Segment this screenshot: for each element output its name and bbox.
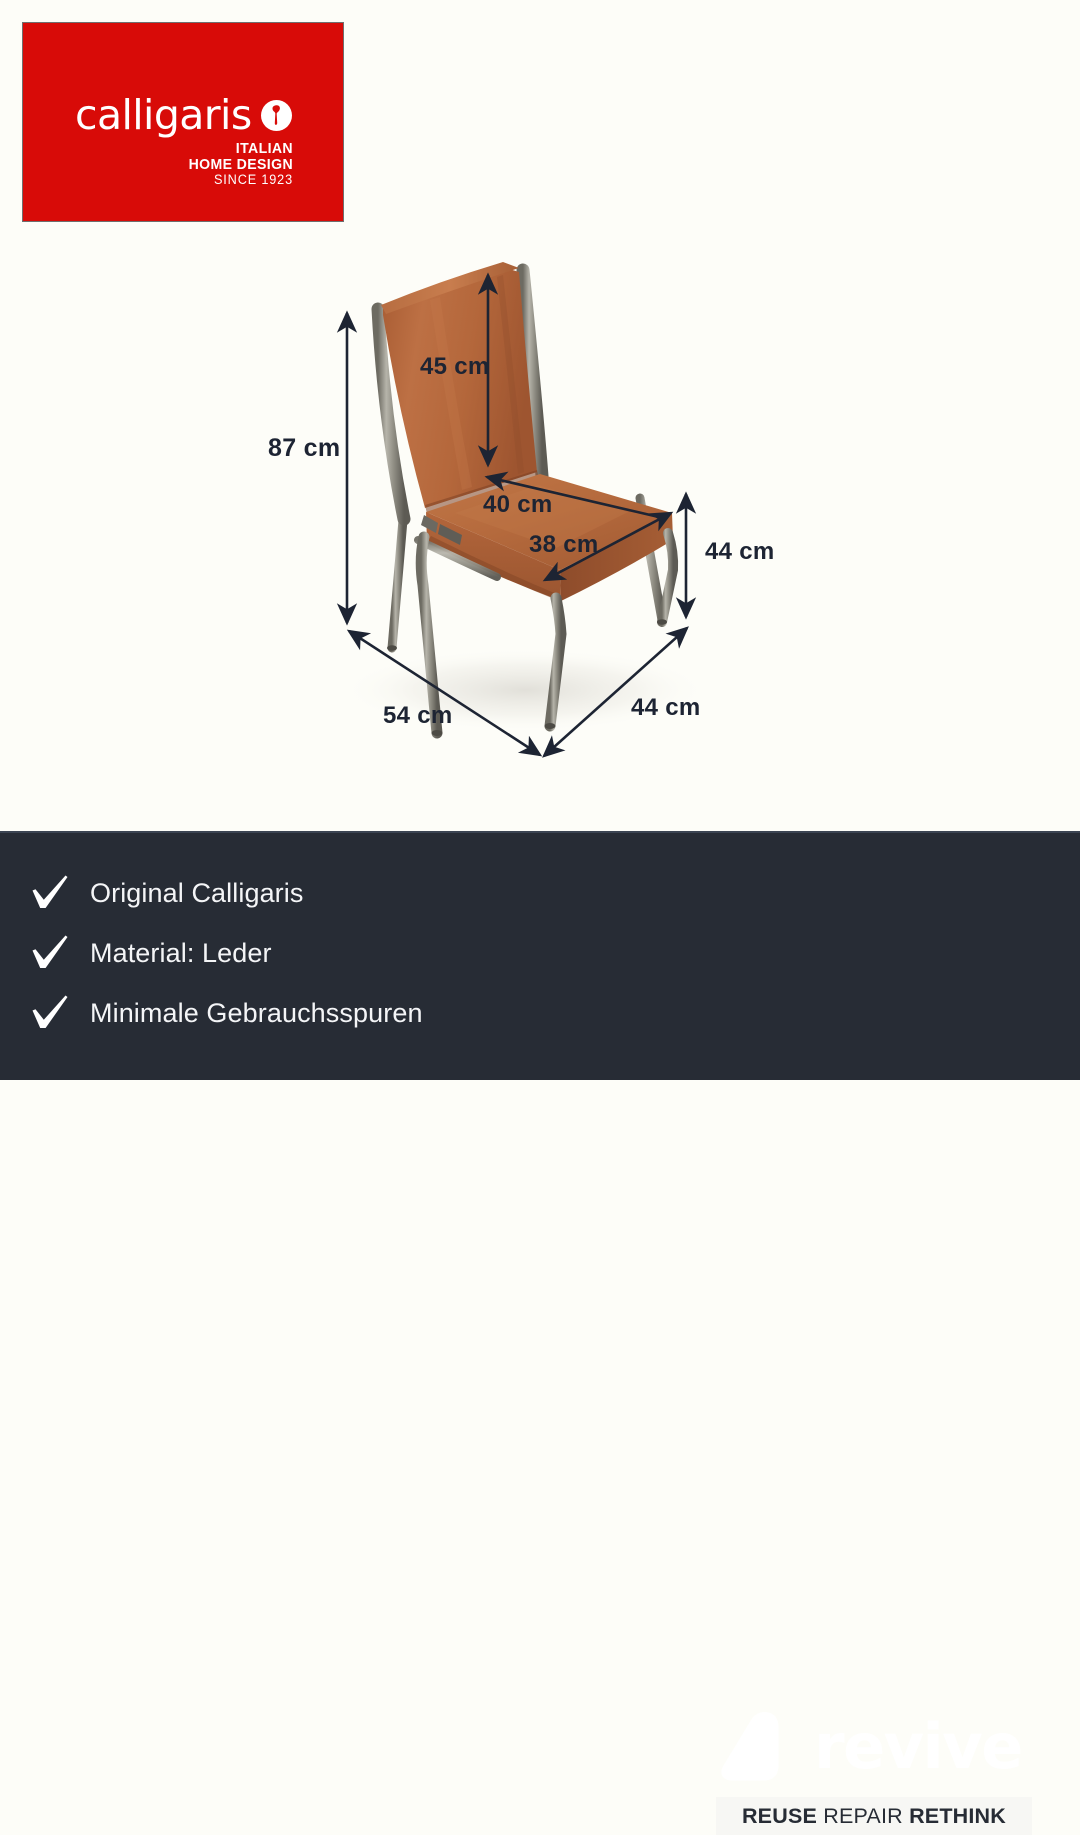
revive-tagline-text: REUSE REPAIR RETHINK — [742, 1804, 1006, 1829]
brand-tagline: ITALIAN HOME DESIGN SINCE 1923 — [75, 141, 293, 188]
brand-wordmark: calligaris — [75, 95, 252, 136]
info-banner: Original Calligaris Material: Leder Mini… — [0, 831, 1080, 1080]
revive-tagline: REUSE REPAIR RETHINK — [716, 1797, 1032, 1835]
feature-list: Original Calligaris Material: Leder Mini… — [28, 863, 423, 1043]
check-icon — [28, 870, 74, 916]
dimension-label-seat-width: 40 cm — [483, 491, 553, 519]
brand-wordmark-row: calligaris — [75, 95, 292, 136]
list-item: Minimale Gebrauchsspuren — [28, 983, 423, 1043]
check-icon — [28, 990, 74, 1036]
brand-tagline-line-2: HOME DESIGN — [88, 157, 293, 173]
feature-label: Material: Leder — [90, 938, 272, 969]
product-image-stage: 87 cm 45 cm 40 cm 38 cm 44 cm 54 cm 44 c… — [0, 0, 1080, 831]
revive-tagline-word-3: RETHINK — [909, 1804, 1006, 1828]
revive-tagline-word-1: REUSE — [742, 1804, 817, 1828]
revive-logo-top-row: revive — [716, 1708, 1046, 1786]
list-item: Material: Leder — [28, 923, 423, 983]
brand-tagline-line-3: SINCE 1923 — [88, 173, 293, 188]
brand-tagline-line-1: ITALIAN — [88, 141, 293, 157]
revive-wordmark: revive — [814, 1716, 1022, 1778]
dimension-label-total-height: 87 cm — [268, 434, 340, 463]
dimension-label-backrest-height: 45 cm — [420, 353, 490, 381]
brand-logo-box: calligaris ITALIAN HOME DESIGN SINCE 192… — [22, 22, 344, 222]
calligaris-figure-icon — [261, 100, 292, 131]
dimension-label-seat-height: 44 cm — [705, 538, 775, 566]
dimension-label-overall-depth: 44 cm — [631, 694, 701, 722]
list-item: Original Calligaris — [28, 863, 423, 923]
revive-logo: revive REUSE REPAIR RETHINK — [716, 1708, 1046, 1835]
check-icon — [28, 930, 74, 976]
brand-logo-inner: calligaris ITALIAN HOME DESIGN SINCE 192… — [23, 23, 343, 221]
dimension-label-seat-depth: 38 cm — [529, 531, 599, 559]
dimension-line-overall-width — [349, 631, 540, 755]
revive-tagline-word-2: REPAIR — [823, 1804, 903, 1828]
dimension-line-overall-depth — [544, 628, 687, 756]
dimension-label-overall-width: 54 cm — [383, 702, 453, 730]
feature-label: Original Calligaris — [90, 878, 303, 909]
revive-wedge-icon — [716, 1708, 806, 1786]
feature-label: Minimale Gebrauchsspuren — [90, 998, 423, 1029]
